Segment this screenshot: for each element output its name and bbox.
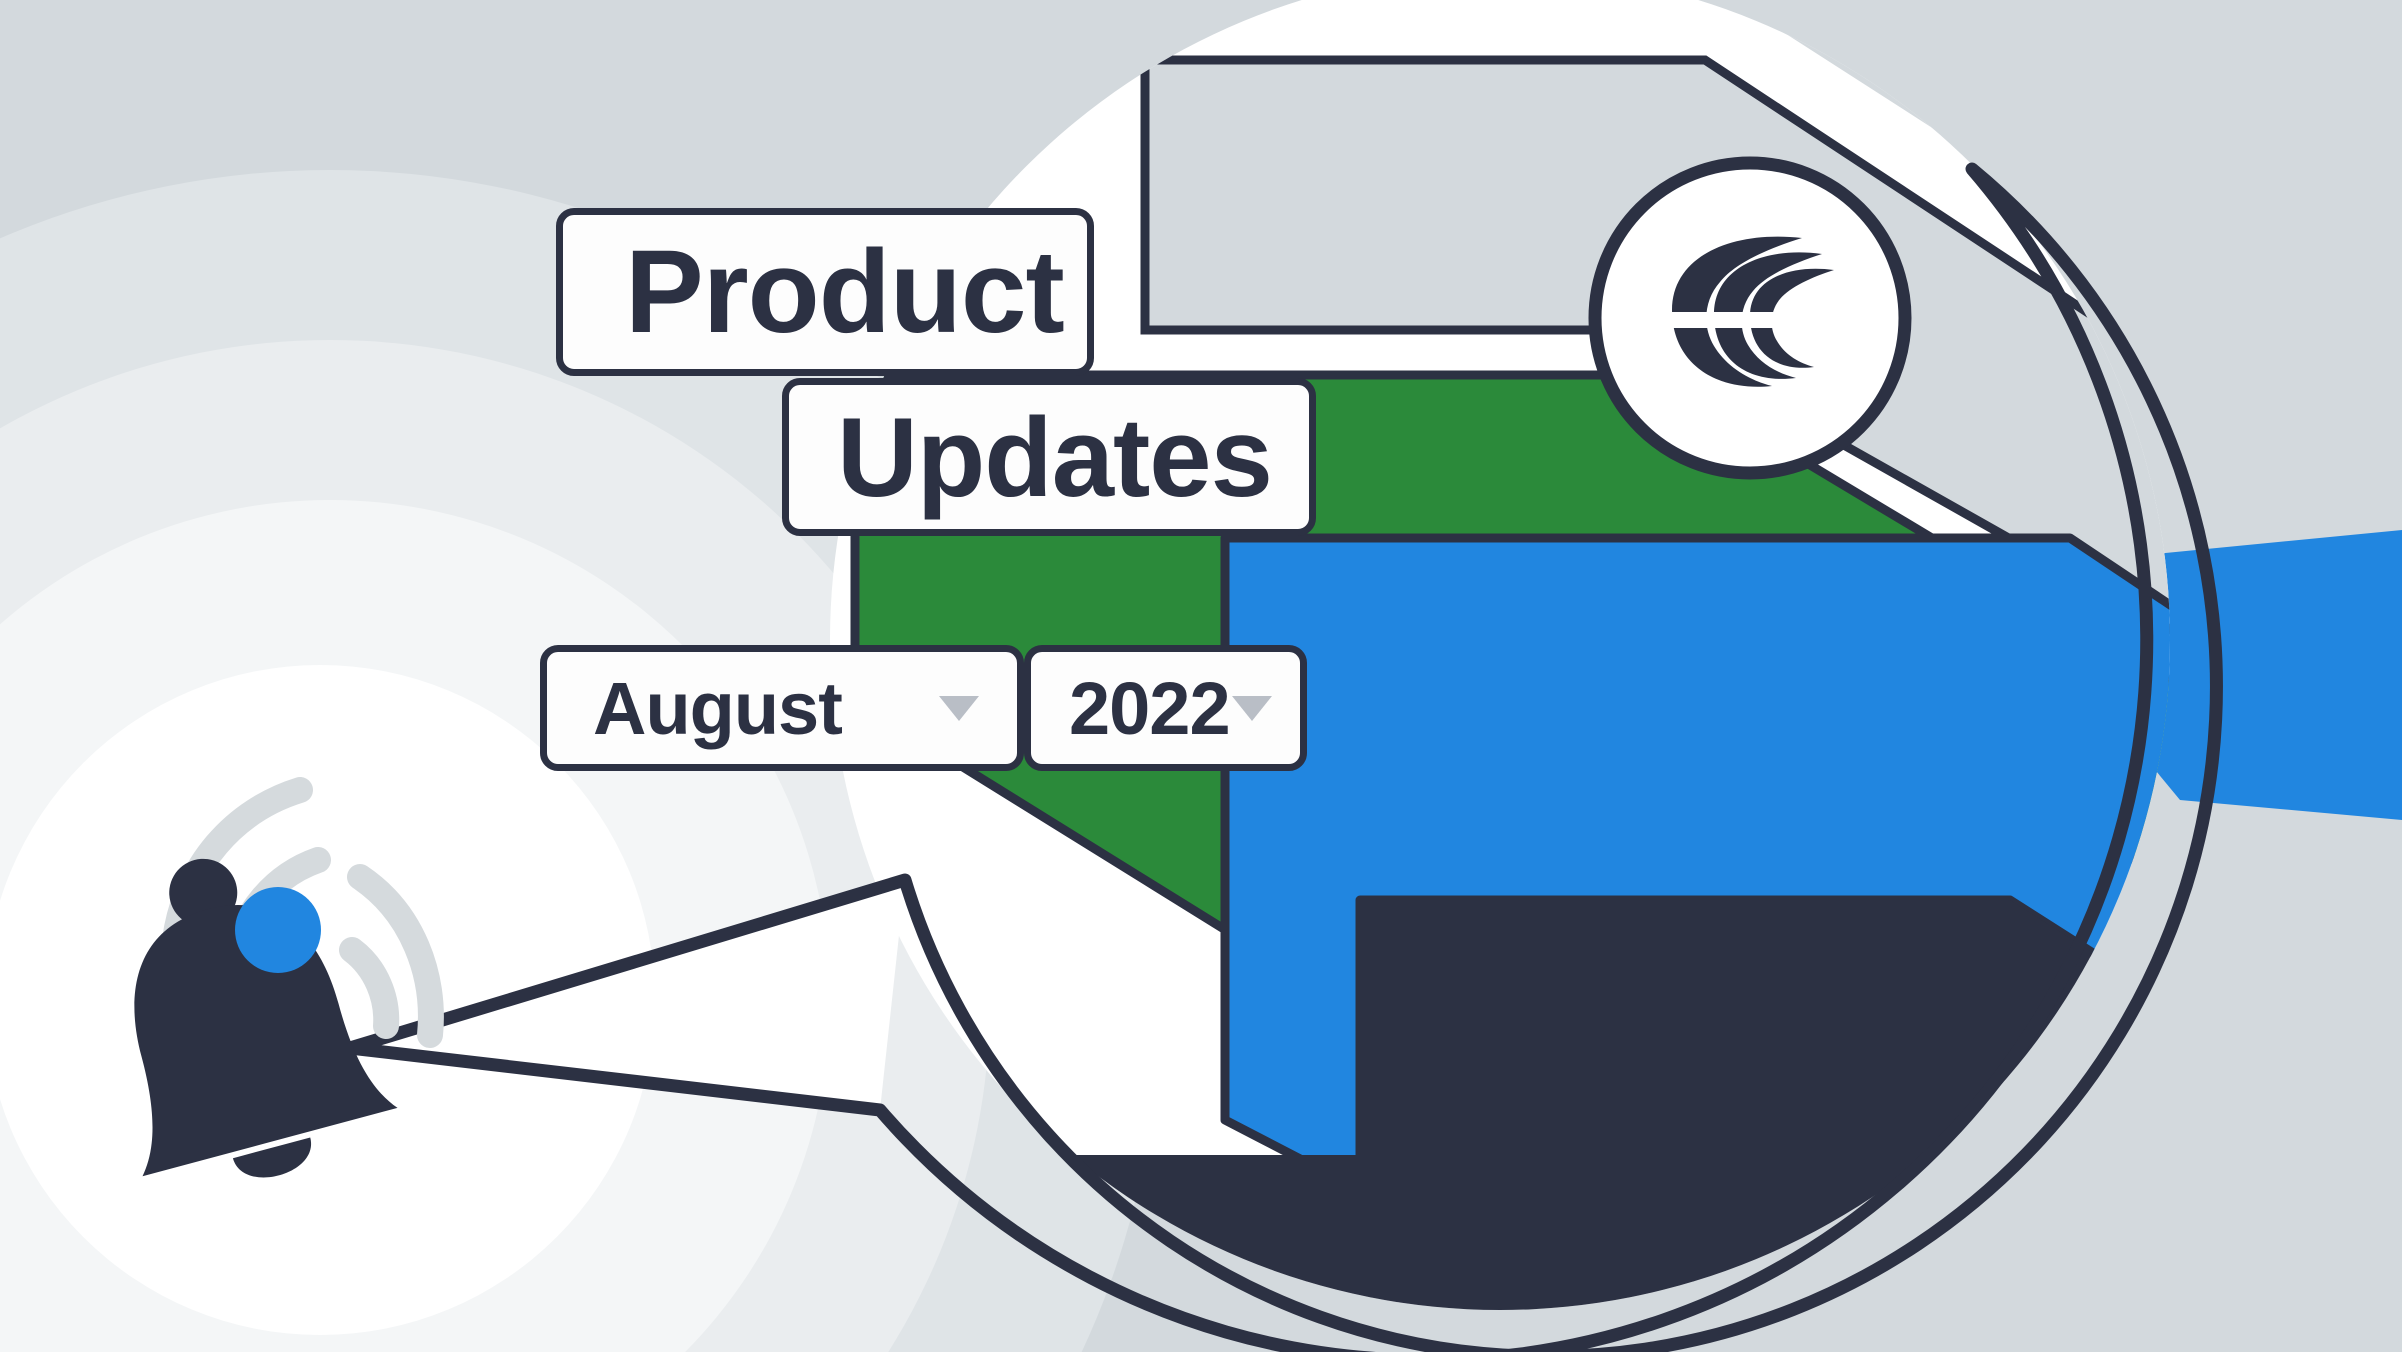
- logo-slot: [1668, 312, 1786, 328]
- title-card-product: Product: [556, 208, 1094, 376]
- page-title-line1: Product: [625, 224, 1064, 360]
- chevron-down-icon: [939, 696, 979, 721]
- month-dropdown[interactable]: August: [540, 645, 1024, 771]
- year-dropdown-value: 2022: [1069, 666, 1230, 751]
- notification-dot-icon[interactable]: [235, 887, 321, 973]
- brand-logo-badge: [1595, 163, 1905, 473]
- chevron-down-icon: [1232, 696, 1272, 721]
- page-title-line2: Updates: [837, 393, 1272, 522]
- month-dropdown-value: August: [593, 666, 842, 751]
- title-card-updates: Updates: [782, 378, 1316, 536]
- year-dropdown[interactable]: 2022: [1024, 645, 1307, 771]
- product-updates-banner: Product Updates August 2022: [0, 0, 2402, 1352]
